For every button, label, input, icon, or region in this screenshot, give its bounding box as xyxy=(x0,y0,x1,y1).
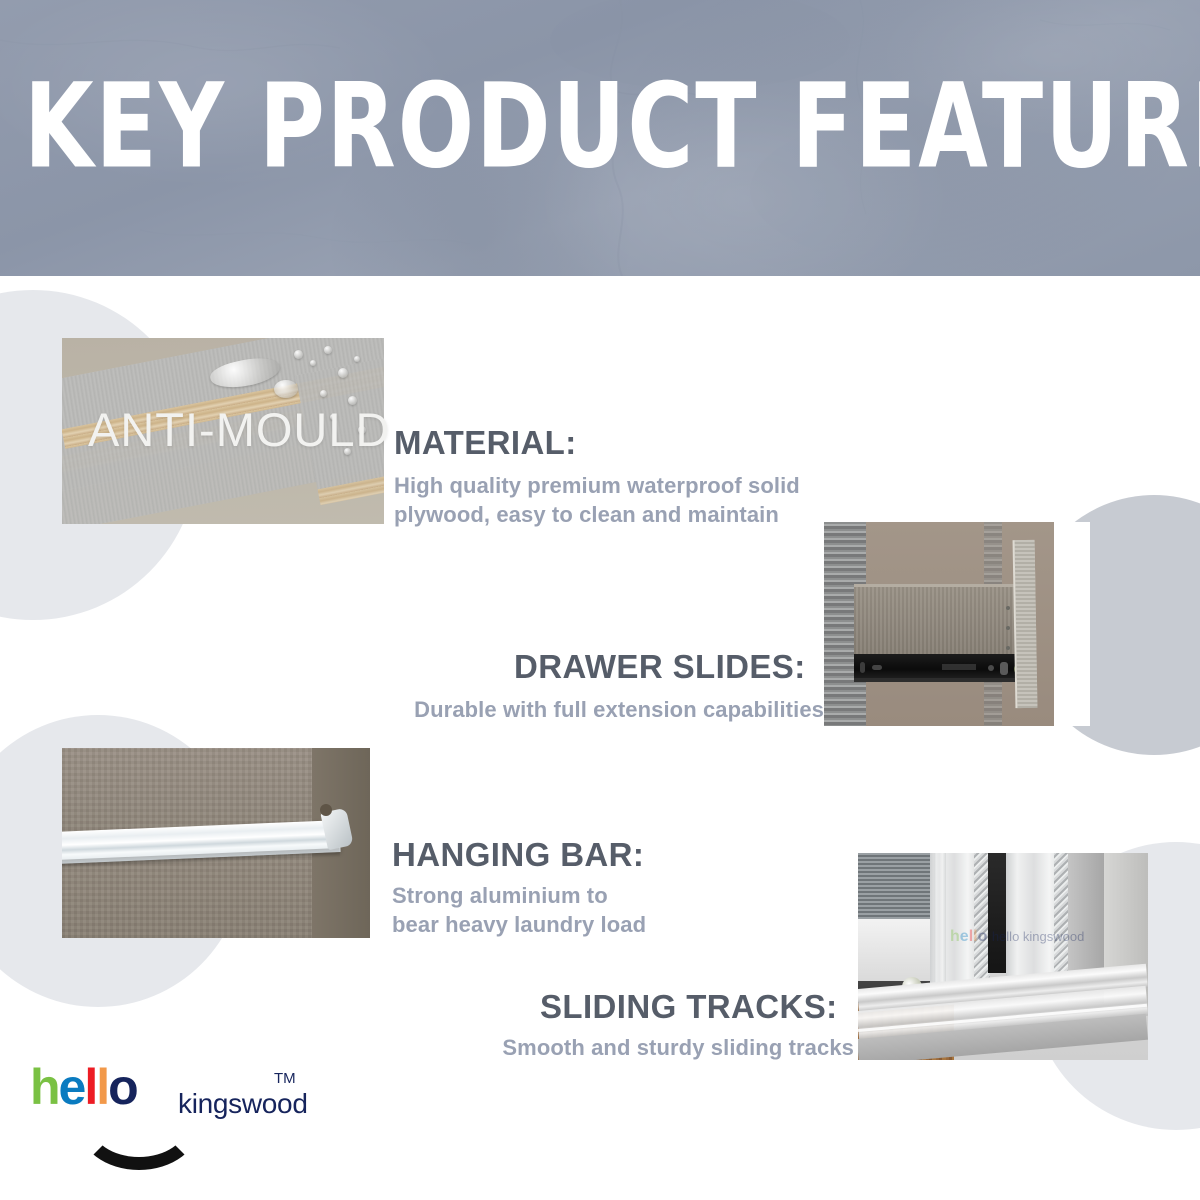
smile-icon xyxy=(78,1124,200,1170)
logo-trademark: TM xyxy=(274,1070,296,1087)
feature-description-material: High quality premium waterproof solid pl… xyxy=(394,471,834,529)
logo-letter-h: h xyxy=(30,1062,59,1112)
logo-wordmark-hello: hello xyxy=(30,1062,137,1112)
feature-description-line: plywood, easy to clean and maintain xyxy=(394,500,834,529)
logo-letter-l2: l xyxy=(96,1062,108,1112)
page-title: KEY PRODUCT FEATURES xyxy=(24,68,1176,184)
logo[interactable]: hello kingswood TM xyxy=(30,1062,310,1172)
feature-description-line: Smooth and sturdy sliding tracks xyxy=(404,1033,854,1062)
feature-description-line: Durable with full extension capabilities xyxy=(374,695,824,724)
feature-description-line: High quality premium waterproof solid xyxy=(394,471,834,500)
logo-letter-e: e xyxy=(59,1062,85,1112)
sliding-track-photo: hello hello kingswood xyxy=(858,853,1148,1060)
logo-letter-l1: l xyxy=(84,1062,96,1112)
drawer-slide-photo xyxy=(824,522,1090,726)
feature-description-line: Strong aluminium to xyxy=(392,881,832,910)
feature-title-drawer-slides: DRAWER SLIDES: xyxy=(514,648,806,686)
feature-description-sliding-tracks: Smooth and sturdy sliding tracks xyxy=(404,1033,854,1062)
infographic-canvas: KEY PRODUCT FEATURES xyxy=(0,0,1200,1200)
hanging-bar-photo xyxy=(62,748,370,938)
feature-title-sliding-tracks: SLIDING TRACKS: xyxy=(540,988,838,1026)
feature-description-line: bear heavy laundry load xyxy=(392,910,832,939)
image-overlay-anti-mould: ANTI-MOULD xyxy=(88,402,390,457)
watermark-brand: hello kingswood xyxy=(992,929,1085,944)
feature-description-drawer-slides: Durable with full extension capabilities xyxy=(374,695,824,724)
logo-letter-o: o xyxy=(108,1062,137,1112)
feature-title-hanging-bar: HANGING BAR: xyxy=(392,836,644,874)
feature-description-hanging-bar: Strong aluminium to bear heavy laundry l… xyxy=(392,881,832,939)
logo-brand-name: kingswood xyxy=(178,1088,308,1120)
header-banner: KEY PRODUCT FEATURES xyxy=(0,0,1200,276)
feature-title-material: MATERIAL: xyxy=(394,424,577,462)
image-watermark: hello hello kingswood xyxy=(950,928,1084,946)
